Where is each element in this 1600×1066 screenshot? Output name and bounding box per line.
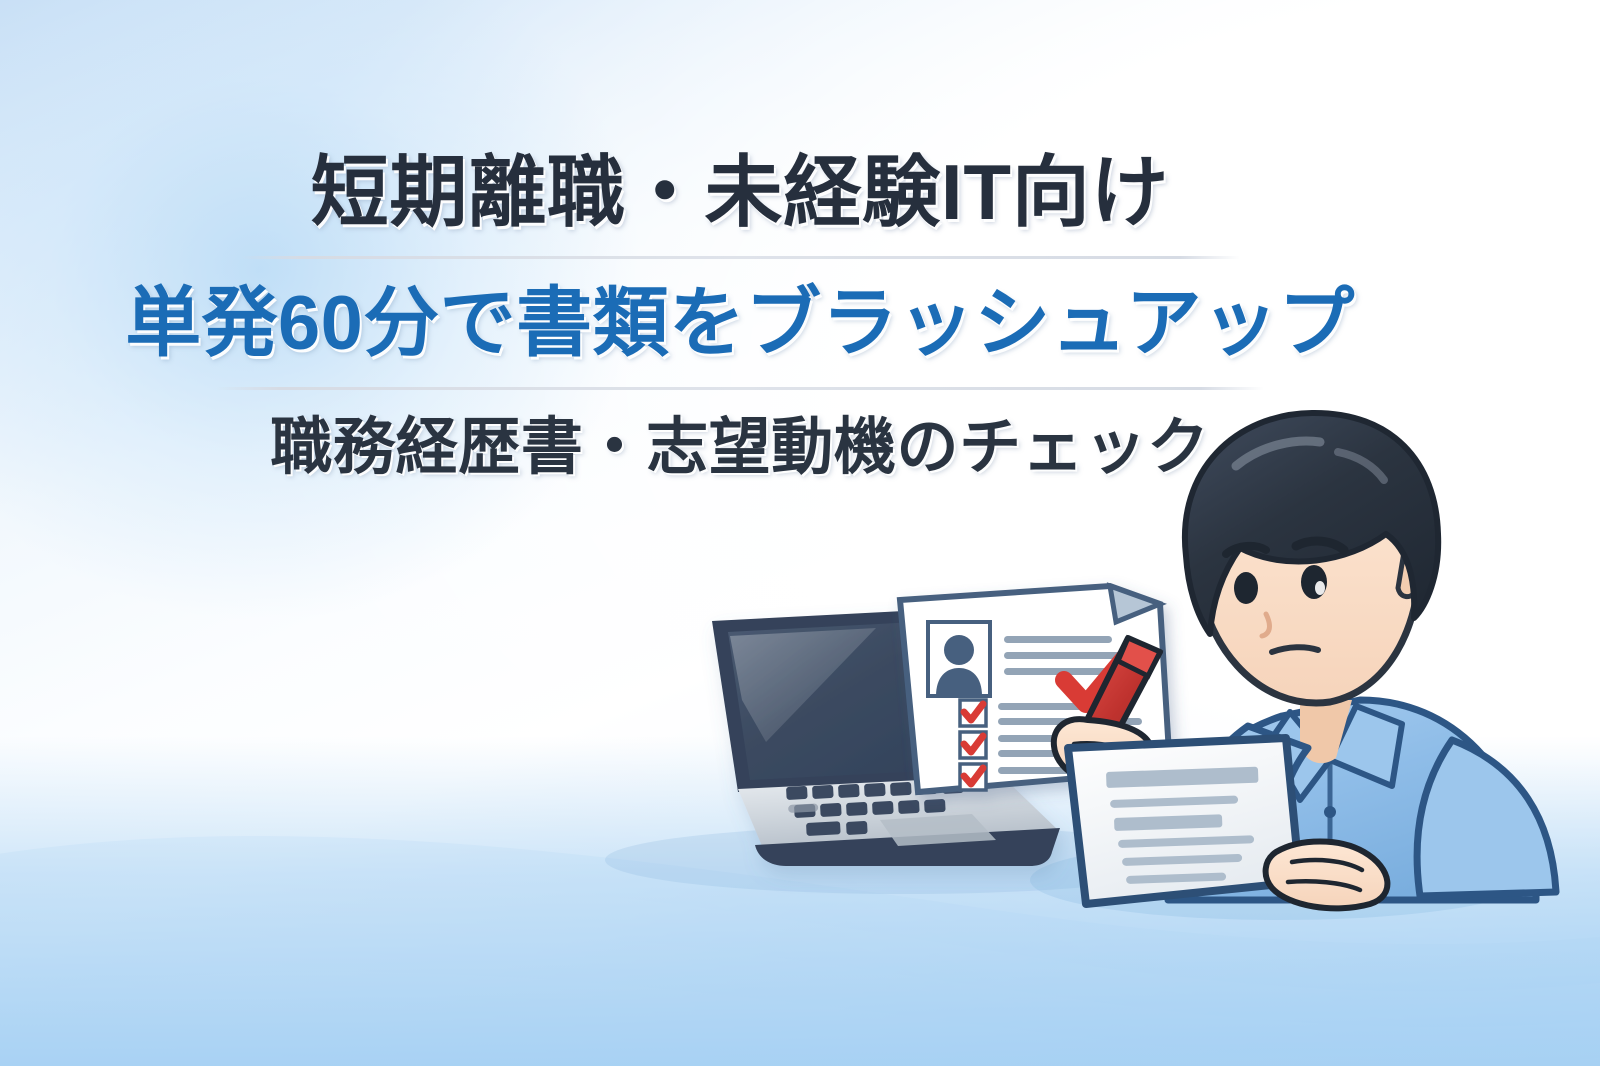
- person-eye-right: [1301, 565, 1327, 599]
- headline-sub-line: 職務経歴書・志望動機のチェック: [0, 414, 1480, 482]
- headline-main-line: 単発60分で書類をブラッシュアップ: [0, 283, 1480, 365]
- eye-highlight: [1315, 581, 1325, 595]
- reviewer-person: [1054, 413, 1556, 908]
- headline-block: 短期離職・未経験IT向け 単発60分で書類をブラッシュアップ 職務経歴書・志望動…: [0, 150, 1480, 483]
- shirt-button: [1324, 806, 1336, 818]
- person-eye-left: [1234, 572, 1258, 604]
- banner-canvas: 短期離職・未経験IT向け 単発60分で書類をブラッシュアップ 職務経歴書・志望動…: [0, 0, 1600, 1066]
- divider-bottom: [216, 387, 1264, 390]
- laptop-hinge-detail: [788, 803, 818, 813]
- divider-top: [240, 256, 1240, 259]
- person-sleeve-right: [1417, 740, 1556, 896]
- headline-top-line: 短期離職・未経験IT向け: [0, 150, 1480, 234]
